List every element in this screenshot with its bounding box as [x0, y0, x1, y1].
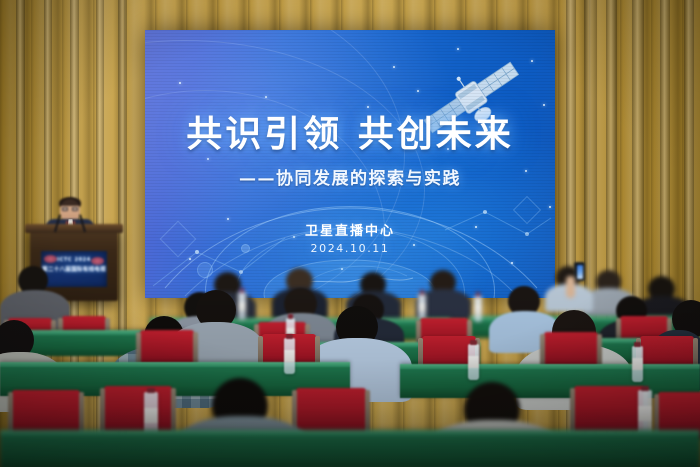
screen-title: 共识引领 共创未来	[145, 116, 555, 155]
screen-date: 2024.10.11	[145, 242, 555, 255]
screen-subtitle: ——协同发展的探索与实践	[145, 164, 555, 189]
conference-hall-photo: 共识引领 共创未来 ——协同发展的探索与实践 卫星直播中心 2024.10.11…	[0, 0, 700, 467]
screen-headline-block: 共识引领 共创未来 ——协同发展的探索与实践	[145, 116, 555, 189]
screen-organization: 卫星直播中心	[145, 220, 555, 239]
